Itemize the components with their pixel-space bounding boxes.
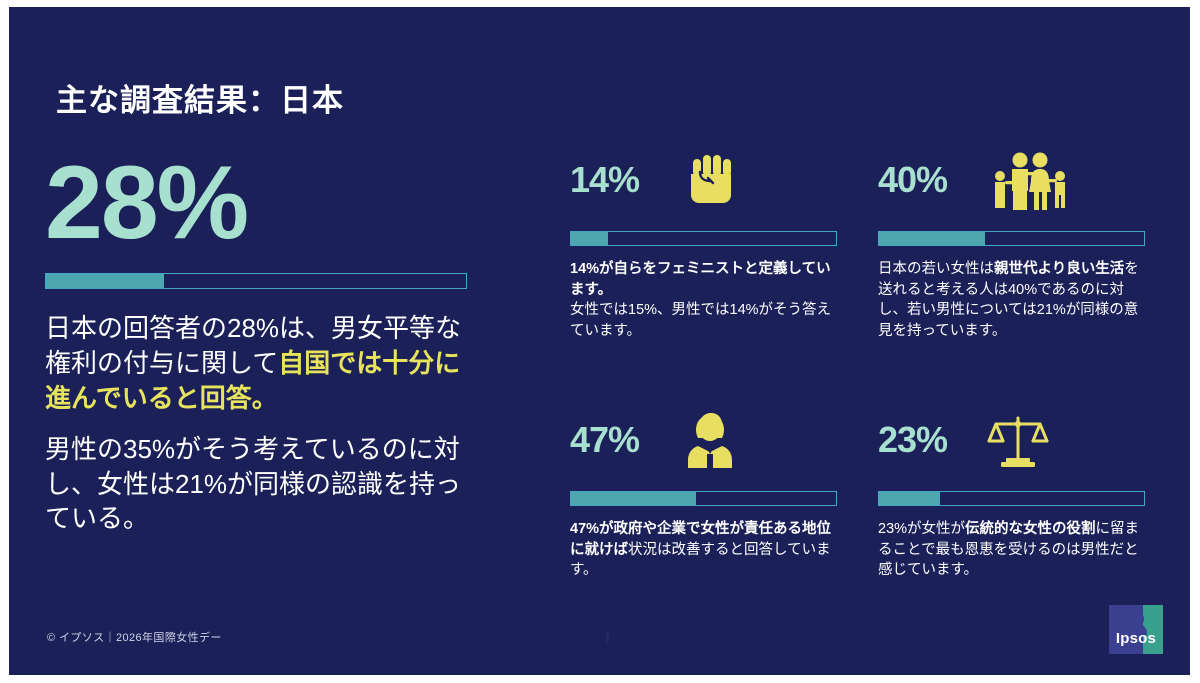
card-progress-fill xyxy=(571,492,696,505)
stat-card-47: 47% 47%が政府や企業で女性が責任ある地位に就けば状況は改善すると回答してい… xyxy=(570,403,840,581)
card-text: 14%が自らをフェミニストと定義しています。女性では15%、男性では14%がそう… xyxy=(570,259,840,341)
card-text: 47%が政府や企業で女性が責任ある地位に就けば状況は改善すると回答しています。 xyxy=(570,519,840,581)
stat-card-40: 40% xyxy=(878,143,1148,341)
card-progress-fill xyxy=(879,492,940,505)
footer-copyright: © イプソス｜2026年国際女性デー xyxy=(47,629,222,645)
businesswoman-icon xyxy=(675,408,745,472)
page-number-mark xyxy=(606,631,609,642)
card-text-sub: 女性では15%、男性では14%がそう答えています。 xyxy=(570,300,840,341)
hero-stat-block: 28% 日本の回答者の28%は、男女平等な権利の付与に関して自国では十分に進んで… xyxy=(45,147,485,552)
hero-body: 日本の回答者の28%は、男女平等な権利の付与に関して自国では十分に進んでいると回… xyxy=(45,311,485,536)
card-figure: 40% xyxy=(878,159,983,201)
page-title: 主な調査結果：日本 xyxy=(56,75,344,120)
stat-card-23: 23% xyxy=(878,403,1148,581)
logo-wordmark: Ipsos xyxy=(1109,630,1163,647)
card-progress-bar xyxy=(878,231,1145,246)
card-text-bold-lead: 14%が xyxy=(570,261,614,277)
card-text-bold: 伝統的な女性の役割 xyxy=(965,521,1096,537)
card-figure: 47% xyxy=(570,419,675,461)
card-header: 23% xyxy=(878,403,1148,477)
card-header: 40% xyxy=(878,143,1148,217)
card-progress-bar xyxy=(570,231,837,246)
slide-canvas: 主な調査結果：日本 28% 日本の回答者の28%は、男女平等な権利の付与に関して… xyxy=(9,7,1190,675)
hero-paragraph-2: 男性の35%がそう考えているのに対し、女性は21%が同様の認識を持っている。 xyxy=(45,432,485,536)
card-figure: 23% xyxy=(878,419,983,461)
card-text-plain-a: 日本の若い女性は xyxy=(878,261,994,277)
hero-progress-fill xyxy=(46,274,164,288)
ipsos-logo: Ipsos xyxy=(1109,605,1163,654)
scales-of-justice-icon xyxy=(983,408,1053,472)
hero-figure: 28% xyxy=(45,147,485,259)
card-progress-fill xyxy=(879,232,985,245)
card-text-bold-lead: 47%が政府や企業で xyxy=(570,521,701,537)
card-header: 47% xyxy=(570,403,840,477)
card-header: 14% xyxy=(570,143,840,217)
family-icon xyxy=(983,148,1075,212)
hero-paragraph-1: 日本の回答者の28%は、男女平等な権利の付与に関して自国では十分に進んでいると回… xyxy=(45,311,485,415)
card-text: 23%が女性が伝統的な女性の役割に留まることで最も恩恵を受けるのは男性だと感じて… xyxy=(878,519,1148,581)
card-progress-fill xyxy=(571,232,608,245)
card-text: 日本の若い女性は親世代より良い生活を送れると考える人は40%であるのに対し、若い… xyxy=(878,259,1148,341)
card-progress-bar xyxy=(570,491,837,506)
hero-progress-bar xyxy=(45,273,467,289)
card-text-plain-a: 23%が女性が xyxy=(878,521,965,537)
card-progress-bar xyxy=(878,491,1145,506)
card-text-bold: 親世代より良い生活 xyxy=(994,261,1124,277)
stat-card-14: 14% 14%が自らをフェミニストと定義しています。女性では15% xyxy=(570,143,840,341)
card-figure: 14% xyxy=(570,159,675,201)
raised-fist-icon xyxy=(675,148,745,212)
